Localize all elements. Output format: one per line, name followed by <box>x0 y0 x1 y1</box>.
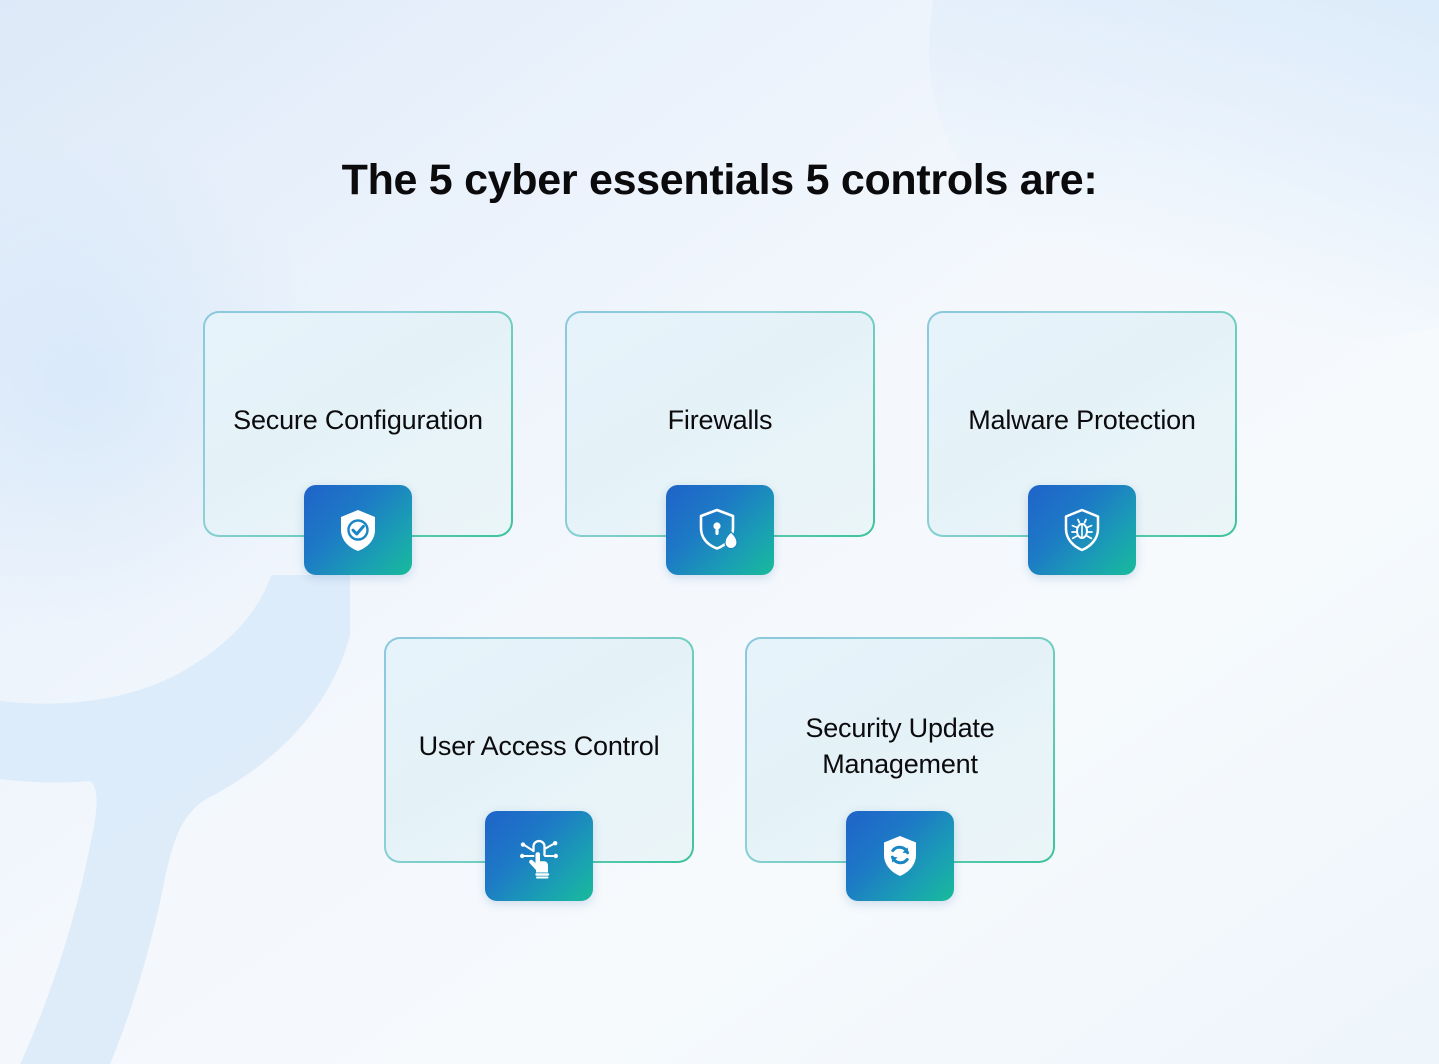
control-card-secure-configuration[interactable]: Secure Configuration <box>203 311 513 537</box>
control-card-title: Security Update Management <box>769 711 1031 782</box>
control-card-malware-protection[interactable]: Malware Protection <box>927 311 1237 537</box>
control-card-row-bottom: User Access Control <box>384 637 1055 863</box>
control-icon-badge[interactable] <box>485 811 593 901</box>
control-icon-badge[interactable] <box>1028 485 1136 575</box>
shield-bug-icon <box>1058 506 1106 554</box>
shield-check-icon <box>334 506 382 554</box>
control-icon-badge[interactable] <box>666 485 774 575</box>
control-card-title: Malware Protection <box>968 403 1196 439</box>
control-card-security-update-management[interactable]: Security Update Management <box>745 637 1055 863</box>
control-icon-badge[interactable] <box>304 485 412 575</box>
control-card-title: Firewalls <box>668 403 773 439</box>
control-card-title: Secure Configuration <box>233 403 483 439</box>
control-card-user-access-control[interactable]: User Access Control <box>384 637 694 863</box>
hand-tap-network-lock-icon <box>515 832 563 880</box>
control-card-title: User Access Control <box>419 729 660 765</box>
control-card-row-top: Secure Configuration Firewalls <box>203 311 1237 537</box>
page-title: The 5 cyber essentials 5 controls are: <box>0 155 1439 206</box>
shield-refresh-icon <box>876 832 924 880</box>
control-icon-badge[interactable] <box>846 811 954 901</box>
infographic-content: The 5 cyber essentials 5 controls are: S… <box>0 0 1439 1064</box>
control-card-firewalls[interactable]: Firewalls <box>565 311 875 537</box>
shield-keyhole-flame-icon <box>696 506 744 554</box>
